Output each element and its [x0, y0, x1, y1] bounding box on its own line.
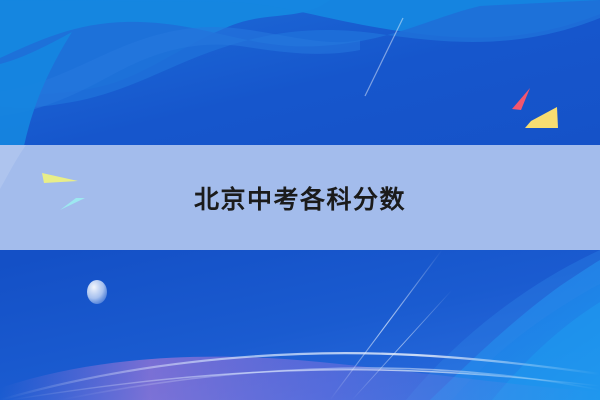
title-band: 北京中考各科分数	[0, 145, 600, 250]
top-wave-band	[0, 0, 600, 145]
page-title: 北京中考各科分数	[0, 145, 600, 250]
bottom-gradient-band	[0, 250, 600, 400]
bottom-gradient-svg	[0, 250, 600, 400]
top-wave-svg	[0, 0, 600, 145]
banner-graphic: 北京中考各科分数	[0, 0, 600, 400]
white-ellipse	[87, 280, 107, 304]
